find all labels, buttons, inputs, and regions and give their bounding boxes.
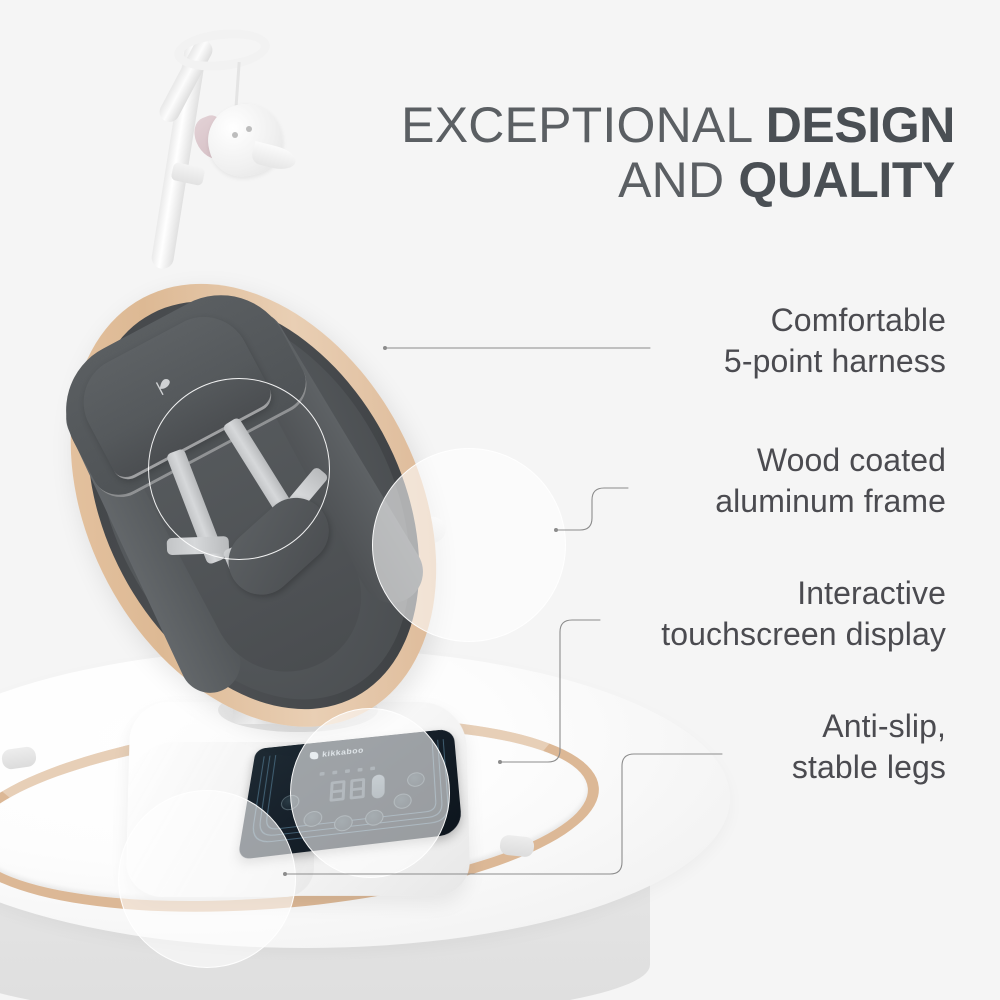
highlight-circle-frame <box>372 448 566 642</box>
title-line-2: AND QUALITY <box>330 153 955 208</box>
feature-frame-line1: Wood coated <box>715 440 946 481</box>
elephant-eye-icon <box>232 132 238 138</box>
feature-label-harness: Comfortable 5-point harness <box>724 300 946 382</box>
title-line-1-bold: DESIGN <box>766 97 955 153</box>
title-line-1-light: EXCEPTIONAL <box>401 97 766 153</box>
toy-hanging-string <box>234 62 240 110</box>
feature-label-touchscreen: Interactive touchscreen display <box>661 573 946 655</box>
elephant-eye-icon <box>246 126 252 132</box>
feature-harness-line2: 5-point harness <box>724 341 946 382</box>
infographic-canvas: kikkaboo <box>0 0 1000 1000</box>
anti-slip-foot <box>499 834 535 857</box>
feature-touchscreen-line1: Interactive <box>661 573 946 614</box>
title-line-1: EXCEPTIONAL DESIGN <box>330 98 955 153</box>
feature-legs-line2: stable legs <box>792 747 946 788</box>
feature-label-frame: Wood coated aluminum frame <box>715 440 946 522</box>
elephant-plush-toy <box>200 96 289 184</box>
highlight-circle-touchscreen <box>290 708 450 878</box>
highlight-circle-harness <box>148 378 330 560</box>
feature-legs-line1: Anti-slip, <box>792 706 946 747</box>
feature-frame-line2: aluminum frame <box>715 481 946 522</box>
page-title: EXCEPTIONAL DESIGN AND QUALITY <box>330 98 955 208</box>
feature-touchscreen-line2: touchscreen display <box>661 614 946 655</box>
title-line-2-bold: QUALITY <box>738 152 955 208</box>
highlight-circle-legs <box>118 790 296 968</box>
title-line-2-light: AND <box>618 152 738 208</box>
feature-label-legs: Anti-slip, stable legs <box>792 706 946 788</box>
feature-harness-line1: Comfortable <box>724 300 946 341</box>
